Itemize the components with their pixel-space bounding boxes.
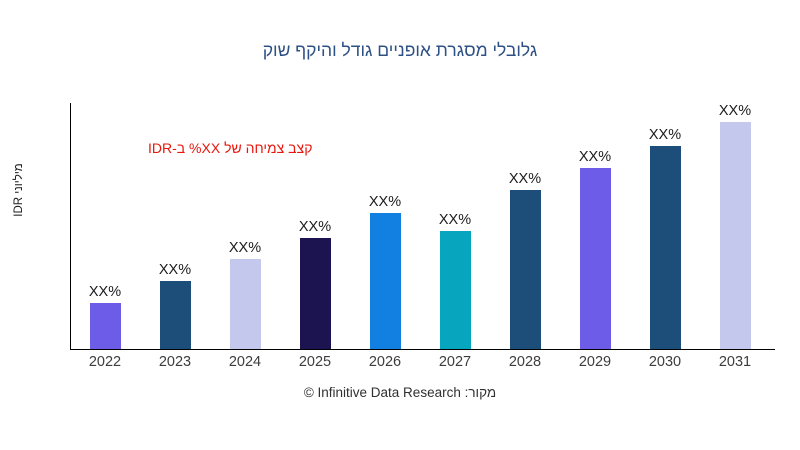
- bar-group: XX%: [700, 102, 770, 349]
- bar[interactable]: [230, 259, 261, 349]
- bar-group: XX%: [420, 102, 490, 349]
- x-axis-line: [70, 349, 775, 350]
- bar-value-label: XX%: [350, 194, 420, 210]
- x-tick-label: 2022: [70, 354, 140, 370]
- bar-value-label: XX%: [420, 212, 490, 228]
- bar[interactable]: [90, 303, 121, 349]
- bar-value-label: XX%: [210, 240, 280, 256]
- bar[interactable]: [160, 281, 191, 349]
- page-title: גלובלי מסגרת אופניים גודל והיקף שוק: [0, 40, 800, 61]
- bar-group: XX%: [140, 102, 210, 349]
- bar-group: XX%: [560, 102, 630, 349]
- bar[interactable]: [370, 213, 401, 349]
- bar-value-label: XX%: [140, 262, 210, 278]
- x-tick-label: 2025: [280, 354, 350, 370]
- bar-group: XX%: [70, 102, 140, 349]
- x-tick-label: 2028: [490, 354, 560, 370]
- bar-group: XX%: [490, 102, 560, 349]
- bar-value-label: XX%: [70, 284, 140, 300]
- bar-value-label: XX%: [700, 103, 770, 119]
- bar[interactable]: [300, 238, 331, 349]
- bar-value-label: XX%: [490, 171, 560, 187]
- bar-chart-figure: גלובלי מסגרת אופניים גודל והיקף שוק מילי…: [0, 0, 800, 450]
- x-tick-label: 2029: [560, 354, 630, 370]
- bar-group: XX%: [280, 102, 350, 349]
- bar[interactable]: [580, 168, 611, 349]
- bar-value-label: XX%: [280, 219, 350, 235]
- bar-group: XX%: [350, 102, 420, 349]
- bar-value-label: XX%: [630, 127, 700, 143]
- x-tick-label: 2031: [700, 354, 770, 370]
- source-attribution: מקור: Infinitive Data Research ©: [0, 385, 800, 400]
- bar[interactable]: [440, 231, 471, 349]
- bar[interactable]: [510, 190, 541, 349]
- x-tick-label: 2026: [350, 354, 420, 370]
- x-tick-label: 2023: [140, 354, 210, 370]
- x-tick-label: 2027: [420, 354, 490, 370]
- x-tick-label: 2030: [630, 354, 700, 370]
- x-tick-label: 2024: [210, 354, 280, 370]
- bar-value-label: XX%: [560, 149, 630, 165]
- y-axis-label: מיליוני IDR: [13, 135, 29, 245]
- bar-group: XX%: [210, 102, 280, 349]
- bar[interactable]: [650, 146, 681, 349]
- growth-rate-annotation: קצב צמיחה של XX% ב-IDR: [148, 140, 312, 156]
- bar[interactable]: [720, 122, 751, 349]
- bar-group: XX%: [630, 102, 700, 349]
- x-axis-tick-labels: 2022202320242025202620272028202920302031: [70, 354, 775, 376]
